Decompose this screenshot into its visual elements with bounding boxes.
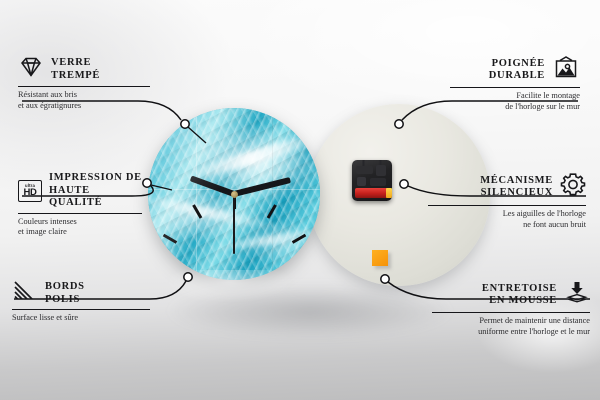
mechanism-detail: [376, 165, 386, 176]
callout-subtitle: Facilite le montage de l'horloge sur le …: [450, 91, 580, 112]
callout-subtitle: Résistant aux bris et aux égratignures: [18, 90, 150, 111]
polished-edges-icon: [12, 281, 38, 306]
callout-header: ultra HD IMPRESSION DE HAUTE QUALITÉ: [18, 172, 142, 210]
callout-rule: [428, 205, 586, 206]
callout-title: ENTRETOISE EN MOUSSE: [482, 283, 557, 308]
battery-positive-terminal: [386, 188, 392, 198]
diamond-icon: [18, 56, 44, 83]
battery: [355, 188, 389, 198]
foam-spacer: [372, 250, 388, 266]
mechanism-detail: [356, 166, 373, 174]
callout-title: VERRE TREMPÉ: [51, 57, 100, 82]
picture-frame-icon: [552, 56, 580, 84]
callout-entretoise-en-mousse: ENTRETOISE EN MOUSSE Permet de maintenir…: [442, 281, 590, 337]
callout-mecanisme-silencieux: MÉCANISME SILENCIEUX Les aiguilles de l'…: [452, 172, 586, 230]
callout-title: IMPRESSION DE HAUTE QUALITÉ: [49, 172, 142, 210]
mechanism-detail: [370, 178, 386, 186]
gear-icon: [560, 172, 586, 202]
callout-header: BORDS POLIS: [12, 281, 134, 306]
callout-impression-haute-qualite: ultra HD IMPRESSION DE HAUTE QUALITÉ Cou…: [18, 172, 142, 238]
callout-title: POIGNÉE DURABLE: [489, 58, 545, 83]
callout-title: MÉCANISME SILENCIEUX: [480, 175, 553, 200]
callout-bords-polis: BORDS POLIS Surface lisse et sûre: [12, 281, 134, 324]
callout-rule: [18, 86, 150, 87]
callout-header: ENTRETOISE EN MOUSSE: [442, 281, 590, 309]
callout-rule: [18, 213, 142, 214]
foam-spacer-icon: [564, 281, 590, 309]
callout-poignee-durable: POIGNÉE DURABLE Facilite le montage de l…: [450, 56, 580, 112]
ultra-hd-big-label: HD: [23, 188, 36, 198]
callout-rule: [450, 87, 580, 88]
callout-verre-trempe: VERRE TREMPÉ Résistant aux bris et aux é…: [18, 56, 150, 111]
callout-rule: [12, 309, 150, 310]
callout-subtitle: Permet de maintenir une distance uniform…: [442, 316, 590, 337]
callout-header: MÉCANISME SILENCIEUX: [452, 172, 586, 202]
callout-rule: [432, 312, 590, 313]
callout-subtitle: Les aiguilles de l'horloge ne font aucun…: [452, 209, 586, 230]
mechanism-detail: [357, 177, 366, 186]
callout-subtitle: Surface lisse et sûre: [12, 313, 134, 323]
callout-header: VERRE TREMPÉ: [18, 56, 150, 83]
callout-title: BORDS POLIS: [45, 281, 85, 306]
ultra-hd-icon: ultra HD: [18, 180, 42, 202]
callout-subtitle: Couleurs intenses et image claire: [18, 217, 142, 238]
clock-mechanism: [352, 160, 392, 201]
callout-header: POIGNÉE DURABLE: [450, 56, 580, 84]
clock-face: [148, 108, 320, 280]
glass-reflection: [148, 108, 320, 280]
infographic-scene: VERRE TREMPÉ Résistant aux bris et aux é…: [0, 0, 600, 400]
